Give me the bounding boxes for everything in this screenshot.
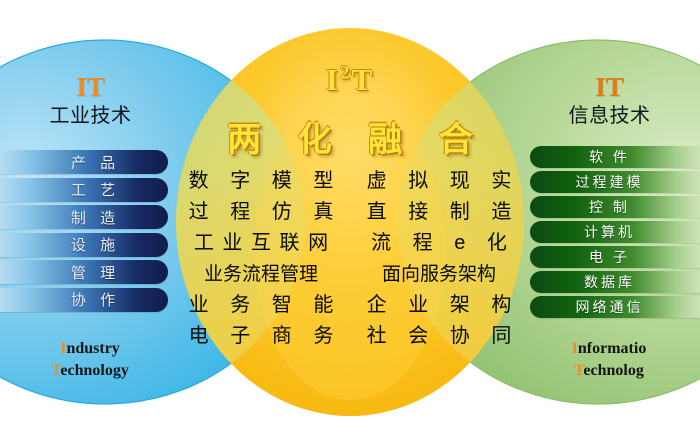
right-english-line2: Technolog	[526, 360, 692, 382]
right-item-label: 数据库	[581, 272, 649, 292]
list-item[interactable]: 工 业 互 联 网	[178, 228, 344, 259]
right-english-cap-t: T	[574, 362, 583, 379]
list-item[interactable]: 管 理	[0, 260, 168, 284]
list-item[interactable]: 业 务 智 能	[178, 290, 344, 321]
list-item[interactable]: 面向服务架构	[356, 259, 522, 290]
list-item[interactable]: 工 艺	[0, 178, 168, 202]
right-item-label: 过程建模	[573, 172, 658, 192]
list-item[interactable]: 虚 拟 现 实	[356, 166, 522, 197]
venn-diagram-canvas: IT 工业技术 产 品 工 艺 制 造 设 施 管 理 协 作 Industry…	[0, 0, 700, 436]
list-item[interactable]: 流 程 e 化	[356, 228, 522, 259]
right-english-line1: Informatio	[526, 338, 692, 360]
center-abbr-i: I	[326, 62, 340, 97]
right-item-label: 控 制	[586, 197, 644, 217]
left-item-label: 管 理	[48, 262, 120, 283]
center-column-right: 虚 拟 现 实 直 接 制 造 流 程 e 化 面向服务架构 企 业 架 构 社…	[356, 166, 522, 352]
left-item-label: 协 作	[48, 289, 120, 310]
left-english-line1: Industry	[10, 338, 170, 360]
center-item-columns: 数 字 模 型 过 程 仿 真 工 业 互 联 网 业务流程管理 业 务 智 能…	[178, 166, 522, 352]
list-item[interactable]: 过 程 仿 真	[178, 197, 344, 228]
list-item[interactable]: 控 制	[530, 196, 700, 218]
right-panel-header: IT 信息技术	[527, 74, 692, 129]
right-item-list: 软 件 过程建模 控 制 计算机 电 子 数据库 网络通信	[530, 146, 700, 321]
list-item[interactable]: 制 造	[0, 205, 168, 229]
list-item[interactable]: 数 字 模 型	[178, 166, 344, 197]
right-item-label: 软 件	[586, 147, 644, 167]
left-item-label: 制 造	[48, 207, 120, 228]
list-item[interactable]: 协 作	[0, 288, 168, 312]
list-item[interactable]: 过程建模	[530, 171, 700, 193]
list-item[interactable]: 设 施	[0, 233, 168, 257]
right-abbr: IT	[527, 74, 692, 101]
list-item[interactable]: 数据库	[530, 271, 700, 293]
left-english-line2: Technology	[10, 360, 170, 382]
right-english-rest-1: nformatio	[578, 340, 646, 357]
list-item[interactable]: 业务流程管理	[178, 259, 344, 290]
right-item-label: 计算机	[581, 222, 649, 242]
right-english-rest-2: echnolog	[583, 362, 643, 379]
right-item-label: 电 子	[586, 247, 644, 267]
left-item-label: 设 施	[48, 234, 120, 255]
right-english-caption: Informatio Technolog	[526, 338, 692, 381]
list-item[interactable]: 计算机	[530, 221, 700, 243]
list-item[interactable]: 电 子	[530, 246, 700, 268]
right-item-label: 网络通信	[573, 297, 658, 317]
right-title: 信息技术	[527, 104, 692, 129]
list-item[interactable]: 社 会 协 同	[356, 321, 522, 352]
list-item[interactable]: 网络通信	[530, 296, 700, 318]
center-abbr-t: T	[352, 62, 375, 97]
center-abbr-superscript: 2	[340, 63, 352, 84]
left-english-cap-t: T	[51, 362, 60, 379]
list-item[interactable]: 企 业 架 构	[356, 290, 522, 321]
left-item-list: 产 品 工 艺 制 造 设 施 管 理 协 作	[0, 150, 168, 315]
list-item[interactable]: 软 件	[530, 146, 700, 168]
left-item-label: 工 艺	[48, 179, 120, 200]
left-english-rest-1: ndustry	[66, 340, 119, 357]
left-english-rest-2: echnology	[60, 362, 128, 379]
center-column-left: 数 字 模 型 过 程 仿 真 工 业 互 联 网 业务流程管理 业 务 智 能…	[178, 166, 344, 352]
list-item[interactable]: 电 子 商 务	[178, 321, 344, 352]
list-item[interactable]: 直 接 制 造	[356, 197, 522, 228]
left-english-caption: Industry Technology	[10, 338, 170, 381]
